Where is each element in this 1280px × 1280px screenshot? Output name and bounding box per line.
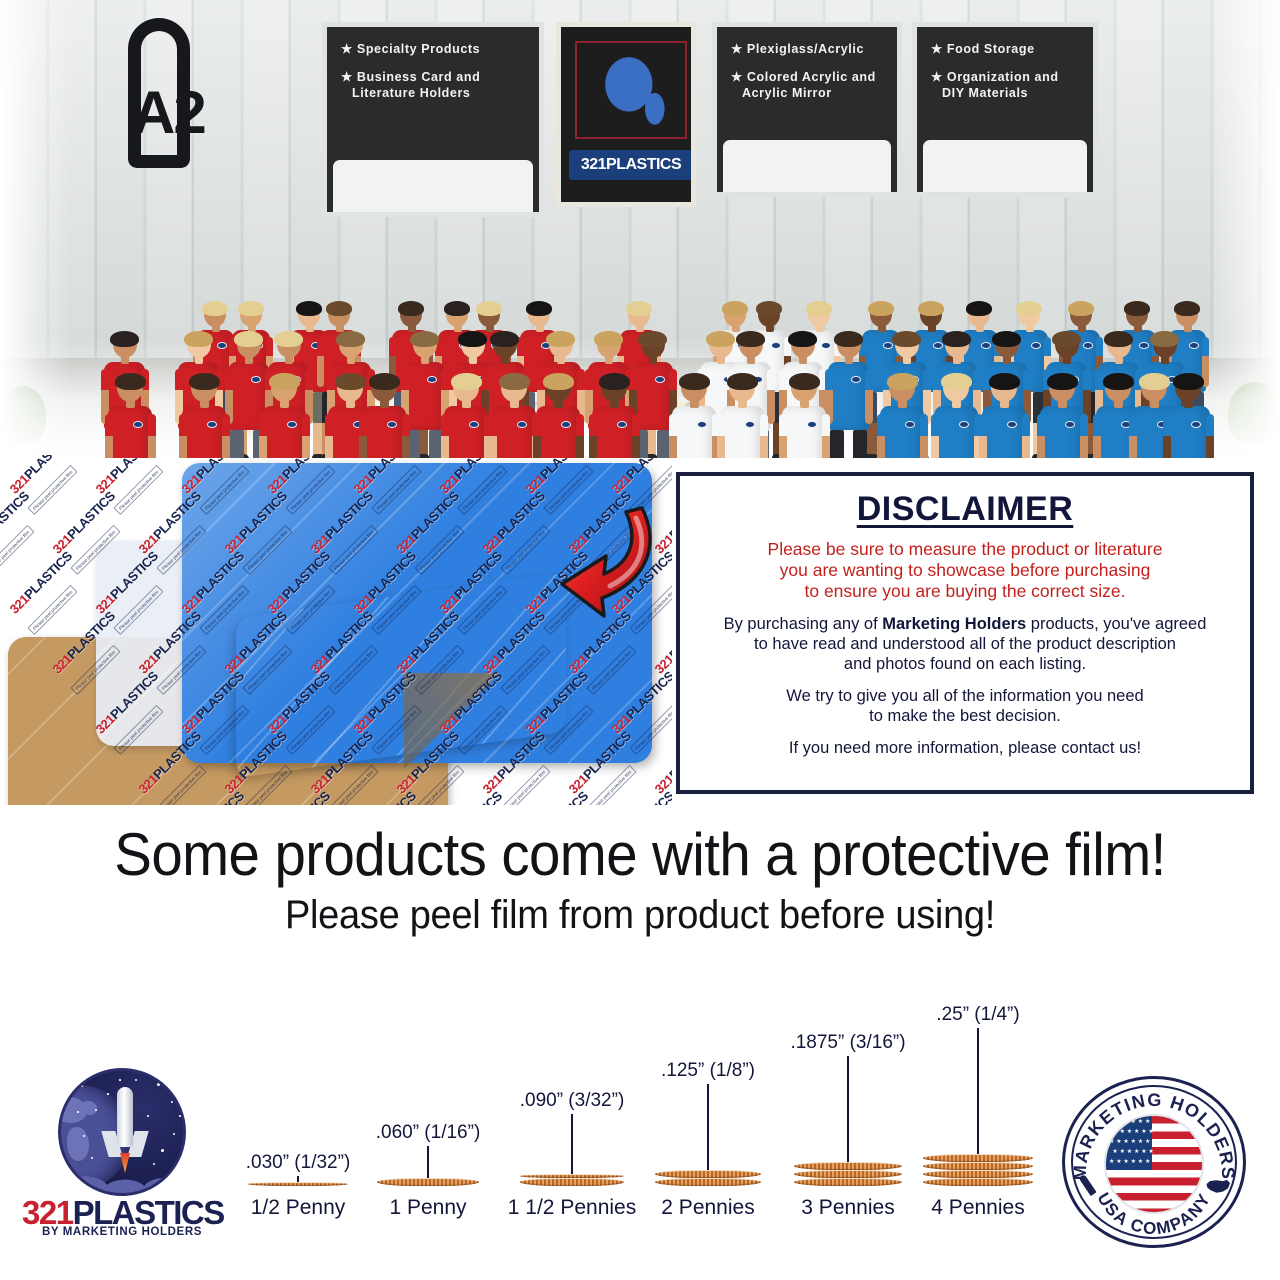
arm xyxy=(222,414,230,458)
star xyxy=(157,1083,160,1086)
hair xyxy=(756,301,782,316)
penny-coin xyxy=(923,1178,1033,1186)
arm xyxy=(822,414,830,458)
hair xyxy=(1016,301,1042,316)
shirt-logo xyxy=(427,376,437,383)
flag-star: ★ xyxy=(1123,1119,1128,1125)
star xyxy=(77,1111,79,1113)
hair xyxy=(942,331,971,347)
arm xyxy=(877,414,885,458)
thickness-label: .030” (1/32”) xyxy=(246,1152,351,1174)
torso-shirt xyxy=(182,406,226,458)
headline-sub: Please peel film from product before usi… xyxy=(32,893,1248,938)
arm xyxy=(402,414,410,458)
photo-right-fade xyxy=(1210,0,1280,458)
staff-member xyxy=(492,370,536,458)
star xyxy=(153,1163,155,1165)
arm xyxy=(148,414,156,458)
arm xyxy=(589,414,597,458)
arm xyxy=(865,369,873,424)
brand-tagline: BY MARKETING HOLDERS xyxy=(22,1226,222,1238)
hair xyxy=(788,331,817,347)
torso-shirt xyxy=(592,406,636,458)
leader-line xyxy=(707,1084,709,1170)
flag-star: ★ xyxy=(1109,1139,1114,1145)
arm xyxy=(779,414,787,458)
staff-member xyxy=(982,370,1026,458)
storefront-window-left: ★ Specialty Products ★ Business Card and… xyxy=(322,22,544,217)
staff-member xyxy=(536,370,580,458)
film-watermark: 321PLASTICS xyxy=(523,788,591,805)
headline-block: Some products come with a protective fil… xyxy=(0,820,1280,938)
penny-count-label: 2 Pennies xyxy=(661,1196,754,1220)
arm xyxy=(767,369,775,424)
hair xyxy=(526,301,552,316)
arm xyxy=(760,414,768,458)
staff-member xyxy=(262,370,306,458)
hair xyxy=(115,373,146,390)
staff-member xyxy=(444,370,488,458)
leg xyxy=(853,430,867,458)
flag-star: ★ xyxy=(1134,1149,1139,1155)
legs xyxy=(404,430,445,458)
hair xyxy=(727,373,758,390)
flag-star: ★ xyxy=(1148,1149,1153,1155)
staff-member xyxy=(592,370,636,458)
storefront-window-right-1: ★ Plexiglass/Acrylic ★ Colored Acrylic a… xyxy=(712,22,902,197)
penny-coin xyxy=(655,1178,761,1186)
film-watermark: 321PLASTICS xyxy=(652,728,672,796)
coin-stack xyxy=(794,1162,902,1186)
torso-shirt xyxy=(880,406,924,458)
penny-coin xyxy=(794,1162,902,1170)
flag-star: ★ xyxy=(1123,1159,1128,1165)
arm xyxy=(489,414,497,458)
arm xyxy=(533,414,541,458)
shirt-logo xyxy=(697,421,707,428)
flag-star: ★ xyxy=(1141,1129,1146,1135)
shirt-logo xyxy=(287,421,297,428)
thickness-label: .1875” (3/16”) xyxy=(790,1032,905,1054)
arm xyxy=(325,414,333,458)
arm xyxy=(979,414,987,458)
leader-line xyxy=(847,1056,849,1162)
leader-line xyxy=(977,1028,979,1154)
shirt-logo xyxy=(1007,421,1017,428)
shirt-logo xyxy=(771,342,781,349)
window-sign-line: ★ Organization and DIY Materials xyxy=(931,69,1081,101)
hair xyxy=(274,331,303,347)
hair xyxy=(1068,301,1094,316)
flag-star: ★ xyxy=(1112,1129,1117,1135)
headline-main: Some products come with a protective fil… xyxy=(38,820,1241,889)
flag-star: ★ xyxy=(1116,1159,1121,1165)
hair xyxy=(546,331,575,347)
shirt-logo xyxy=(959,421,969,428)
brand-name-inline: Marketing Holders xyxy=(882,615,1026,633)
hair xyxy=(296,301,322,316)
star xyxy=(179,1115,181,1117)
hair xyxy=(722,301,748,316)
hair xyxy=(1052,331,1081,347)
star xyxy=(171,1101,173,1103)
staff-member xyxy=(672,370,716,458)
torso-shirt xyxy=(1040,406,1084,458)
hair xyxy=(834,331,863,347)
legs xyxy=(828,430,869,458)
hair xyxy=(202,301,228,316)
hair xyxy=(369,373,400,390)
torso-shirt xyxy=(362,406,406,458)
torso-shirt xyxy=(492,406,536,458)
penny-coin xyxy=(377,1178,479,1186)
torso-shirt xyxy=(108,406,152,458)
arm xyxy=(105,414,113,458)
staff-member xyxy=(880,370,924,458)
penny-count-label: 1 1/2 Pennies xyxy=(508,1196,636,1220)
hair xyxy=(887,373,918,390)
film-watermark-note: Please peel protective film xyxy=(0,525,34,575)
agreement-pre: By purchasing any of xyxy=(724,615,883,633)
arm xyxy=(931,414,939,458)
arm xyxy=(302,414,310,458)
shirt-logo xyxy=(1191,421,1201,428)
penny-coin xyxy=(794,1170,902,1178)
hair xyxy=(892,331,921,347)
staff-member xyxy=(1166,370,1210,458)
flag-star: ★ xyxy=(1131,1119,1136,1125)
hair xyxy=(398,301,424,316)
photo-left-fade xyxy=(0,0,70,458)
arm xyxy=(669,414,677,458)
shirt-logo xyxy=(1065,421,1075,428)
hair xyxy=(1103,373,1134,390)
flag-star: ★ xyxy=(1138,1139,1143,1145)
thickness-label: .125” (1/8”) xyxy=(661,1060,755,1082)
penny-coin xyxy=(794,1178,902,1186)
torso-shirt xyxy=(1166,406,1210,458)
star xyxy=(161,1149,164,1152)
flag-star: ★ xyxy=(1145,1159,1150,1165)
star xyxy=(147,1115,149,1117)
hair xyxy=(490,331,519,347)
disclaimer-title: DISCLAIMER xyxy=(698,490,1232,529)
hair xyxy=(989,373,1020,390)
hair xyxy=(238,301,264,316)
leg xyxy=(830,430,844,458)
coin-stack xyxy=(377,1178,479,1186)
flag-star: ★ xyxy=(1127,1149,1132,1155)
star xyxy=(95,1109,97,1111)
usa-map-graphic xyxy=(575,41,687,139)
flag-star: ★ xyxy=(1116,1119,1121,1125)
torso-shirt xyxy=(404,362,445,430)
thickness-label: .060” (1/16”) xyxy=(376,1122,481,1144)
penny-coin xyxy=(520,1178,624,1186)
logo-marketing-holders-badge: ★★★★★★★★★★★★★★★★★★★★★★★★★★★★★★ MARKETING… xyxy=(1062,1076,1246,1248)
coin-stack xyxy=(520,1174,624,1186)
hair xyxy=(234,331,263,347)
window-inner-panel xyxy=(333,160,533,212)
window-sign-line: ★ Plexiglass/Acrylic xyxy=(731,41,885,57)
shirt-logo xyxy=(1189,342,1199,349)
landmass xyxy=(81,1101,97,1115)
shirt-logo xyxy=(561,421,571,428)
penny-coin xyxy=(923,1154,1033,1162)
coin-stack xyxy=(655,1170,761,1186)
globe-rocket-badge xyxy=(58,1068,186,1196)
hair xyxy=(184,331,213,347)
disclaimer-contact-text: If you need more information, please con… xyxy=(698,738,1232,758)
shirt-logo xyxy=(745,421,755,428)
hair xyxy=(941,373,972,390)
flag-star: ★ xyxy=(1116,1139,1121,1145)
flag-star: ★ xyxy=(1127,1129,1132,1135)
shirt-logo xyxy=(387,421,397,428)
arm xyxy=(317,337,324,387)
shirt-logo xyxy=(617,421,627,428)
shirt-logo xyxy=(207,421,217,428)
peel-direction-arrow xyxy=(556,498,666,623)
penny-count-label: 1 Penny xyxy=(389,1196,466,1220)
torso-shirt xyxy=(672,406,716,458)
hair xyxy=(1124,301,1150,316)
torso-shirt xyxy=(934,406,978,458)
staff-member xyxy=(182,370,226,458)
flag-star: ★ xyxy=(1138,1119,1143,1125)
shirt-logo xyxy=(251,376,261,383)
leader-line xyxy=(427,1146,429,1178)
hair xyxy=(868,301,894,316)
star xyxy=(173,1133,175,1135)
hair xyxy=(476,301,502,316)
hair xyxy=(336,331,365,347)
hair xyxy=(326,301,352,316)
leader-line xyxy=(571,1114,573,1174)
hair xyxy=(638,331,667,347)
flag-star: ★ xyxy=(1134,1129,1139,1135)
hair xyxy=(110,331,139,347)
shirt-logo xyxy=(905,421,915,428)
hair xyxy=(1150,331,1179,347)
flag-star: ★ xyxy=(1123,1139,1128,1145)
flag-star: ★ xyxy=(1109,1159,1114,1165)
wall-graphic-number: A2 xyxy=(132,78,205,147)
flag-star: ★ xyxy=(1138,1159,1143,1165)
arm xyxy=(259,414,267,458)
shirt-logo xyxy=(469,421,479,428)
torso-shirt xyxy=(444,406,488,458)
hair xyxy=(966,301,992,316)
hair xyxy=(599,373,630,390)
disclaimer-information-text: We try to give you all of the informatio… xyxy=(698,686,1232,726)
shirt-logo xyxy=(807,421,817,428)
staff-member xyxy=(720,370,764,458)
hair xyxy=(410,331,439,347)
hair xyxy=(789,373,820,390)
penny-coin-half xyxy=(248,1182,348,1186)
window-inner-panel xyxy=(723,140,891,192)
thickness-label: .090” (3/32”) xyxy=(520,1090,625,1112)
flag-star: ★ xyxy=(1148,1129,1153,1135)
arm xyxy=(717,414,725,458)
hair xyxy=(992,331,1021,347)
hair xyxy=(451,373,482,390)
flag-star: ★ xyxy=(1109,1119,1114,1125)
flag-star: ★ xyxy=(1120,1129,1125,1135)
shirt-logo xyxy=(1031,342,1041,349)
arm xyxy=(1037,414,1045,458)
arm xyxy=(1093,414,1101,458)
penny-coin xyxy=(923,1162,1033,1170)
arm xyxy=(179,414,187,458)
penny-coin xyxy=(923,1170,1033,1178)
storefront-window-right-2: ★ Food Storage ★ Organization and DIY Ma… xyxy=(912,22,1098,197)
star xyxy=(181,1155,183,1157)
arm xyxy=(1163,414,1171,458)
film-watermark: 321PLASTICS xyxy=(609,788,672,805)
window-sign-line: ★ Colored Acrylic and Acrylic Mirror xyxy=(731,69,885,101)
hair xyxy=(918,301,944,316)
penny-coin xyxy=(655,1170,761,1178)
hair xyxy=(499,373,530,390)
torso-shirt xyxy=(720,406,764,458)
torso-shirt xyxy=(782,406,826,458)
storefront-brand-sign: 321PLASTICS xyxy=(569,150,693,180)
rocket-icon xyxy=(117,1087,133,1147)
staff-member xyxy=(362,370,406,458)
torso-shirt xyxy=(536,406,580,458)
storefront-window-middle: 321PLASTICS xyxy=(556,22,696,207)
disclaimer-agreement-text: By purchasing any of Marketing Holders p… xyxy=(698,614,1232,674)
hair xyxy=(189,373,220,390)
star xyxy=(91,1157,93,1159)
hair xyxy=(1104,331,1133,347)
logo-321-plastics: 321PLASTICS BY MARKETING HOLDERS xyxy=(22,1068,222,1248)
torso-shirt xyxy=(982,406,1026,458)
penny-count-label: 4 Pennies xyxy=(931,1196,1024,1220)
disclaimer-measure-warning: Please be sure to measure the product or… xyxy=(698,539,1232,602)
flag-star: ★ xyxy=(1131,1159,1136,1165)
star xyxy=(135,1079,137,1081)
torso-shirt xyxy=(262,406,306,458)
star xyxy=(83,1135,85,1137)
shirt-logo xyxy=(517,421,527,428)
window-sign-line: ★ Food Storage xyxy=(931,41,1081,57)
hair xyxy=(458,331,487,347)
hair xyxy=(736,331,765,347)
hair xyxy=(1047,373,1078,390)
hair xyxy=(594,331,623,347)
torso-shirt xyxy=(828,362,869,430)
shirt-logo xyxy=(133,421,143,428)
hair xyxy=(626,301,652,316)
hair xyxy=(269,373,300,390)
flag-star: ★ xyxy=(1112,1149,1117,1155)
arm xyxy=(1206,414,1214,458)
arm xyxy=(576,414,584,458)
arm xyxy=(1129,414,1137,458)
penny-count-label: 1/2 Penny xyxy=(251,1196,346,1220)
shirt-logo xyxy=(655,376,665,383)
staff-member xyxy=(1040,370,1084,458)
flag-star: ★ xyxy=(1145,1139,1150,1145)
staff-member xyxy=(404,328,445,458)
thickness-label: .25” (1/4”) xyxy=(936,1004,1019,1026)
hair xyxy=(806,301,832,316)
staff-member xyxy=(828,328,869,458)
hair xyxy=(543,373,574,390)
flag-star: ★ xyxy=(1131,1139,1136,1145)
arm xyxy=(359,414,367,458)
arm xyxy=(441,414,449,458)
disclaimer-box: DISCLAIMER Please be sure to measure the… xyxy=(676,472,1254,794)
film-watermark: 321PLASTICS xyxy=(7,548,75,616)
arm xyxy=(1022,414,1030,458)
staff-member xyxy=(108,370,152,458)
arm xyxy=(632,414,640,458)
us-flag-icon: ★★★★★★★★★★★★★★★★★★★★★★★★★★★★★★ xyxy=(1104,1114,1204,1214)
leg xyxy=(230,430,244,458)
arm xyxy=(1080,414,1088,458)
hair xyxy=(1173,373,1204,390)
coin-stack xyxy=(923,1154,1033,1186)
team-photo-banner: A2 ★ Specialty Products ★ Business Card … xyxy=(0,0,1280,458)
shirt-logo xyxy=(851,376,861,383)
staff-member xyxy=(782,370,826,458)
window-sign-line: ★ Specialty Products xyxy=(341,41,527,57)
flag-star: ★ xyxy=(1141,1149,1146,1155)
star xyxy=(81,1085,83,1087)
star xyxy=(119,1079,121,1081)
flag-star: ★ xyxy=(1145,1119,1150,1125)
star xyxy=(107,1093,109,1095)
window-sign-line: ★ Business Card and Literature Holders xyxy=(341,69,527,101)
arm xyxy=(920,414,928,458)
staff-member xyxy=(934,370,978,458)
penny-count-label: 3 Pennies xyxy=(801,1196,894,1220)
hair xyxy=(679,373,710,390)
coin-stack xyxy=(248,1182,348,1186)
window-inner-panel xyxy=(923,140,1087,192)
flag-star: ★ xyxy=(1120,1149,1125,1155)
hair xyxy=(444,301,470,316)
hair xyxy=(1174,301,1200,316)
